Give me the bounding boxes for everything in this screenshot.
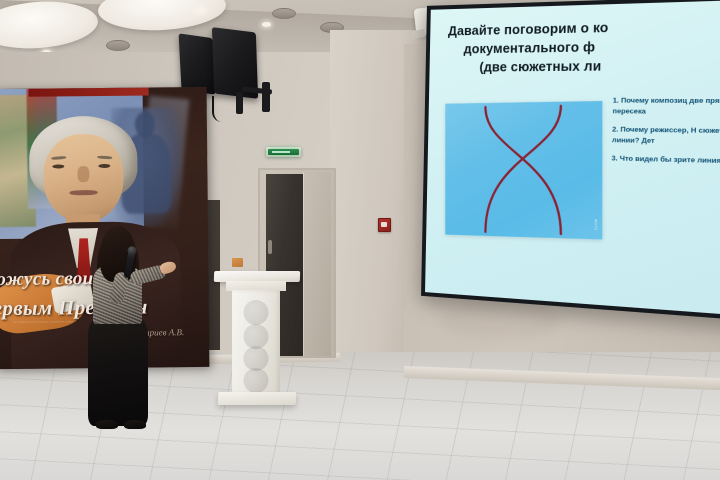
portrait-mouth <box>70 190 98 195</box>
slide-title: Давайте поговорим о ко документального ф… <box>447 16 720 77</box>
photo-scene: Давайте поговорим о ко документального ф… <box>0 0 720 480</box>
lectern-body <box>232 290 280 395</box>
presenter-shoe <box>96 420 118 429</box>
ceiling-vent <box>106 40 130 51</box>
ceiling-downlight <box>196 8 205 13</box>
ceiling-vent <box>272 8 296 19</box>
lectern-circle <box>244 300 269 325</box>
emergency-exit-sign <box>266 147 301 157</box>
slide-body-item: 2. Почему режиссер, Н сюжетные линии? Де… <box>612 125 720 149</box>
slide-diagram: ФОТО <box>445 101 602 240</box>
presenter-shoe <box>124 420 146 429</box>
slide-surface: Давайте поговорим о ко документального ф… <box>425 0 720 316</box>
speaker-mount-arm <box>262 82 270 112</box>
banner-credit-line: Республиканский конкурс творческих работ <box>13 320 73 324</box>
banner-top-stripe <box>28 87 148 97</box>
wall-texture <box>440 300 560 340</box>
ceiling-downlight <box>262 22 271 27</box>
projection-screen[interactable]: Давайте поговорим о ко документального ф… <box>421 0 720 321</box>
speaker-mount-arm <box>236 92 243 114</box>
presenter-trousers <box>88 318 148 426</box>
slide-body-item: 3. Что видел бы зрите линия? <box>611 153 720 167</box>
slide-body-item: 1. Почему композиц две прямые пересека <box>612 96 720 118</box>
figure-watermark: ФОТО <box>594 219 598 231</box>
portrait-nose <box>77 166 89 182</box>
door-leaf[interactable] <box>303 172 331 356</box>
fire-alarm-icon[interactable] <box>378 218 391 232</box>
slide-body-list: 1. Почему композиц две прямые пересека 2… <box>611 96 720 175</box>
wall-socket-icon <box>232 258 243 267</box>
lectern-circle <box>244 368 269 393</box>
slide-title-line-3: (две сюжетных ли <box>447 55 720 77</box>
lectern-base <box>218 392 297 405</box>
crossing-lines-diagram <box>445 101 602 240</box>
speaker-cable <box>212 96 226 122</box>
door-handle[interactable] <box>268 240 272 254</box>
